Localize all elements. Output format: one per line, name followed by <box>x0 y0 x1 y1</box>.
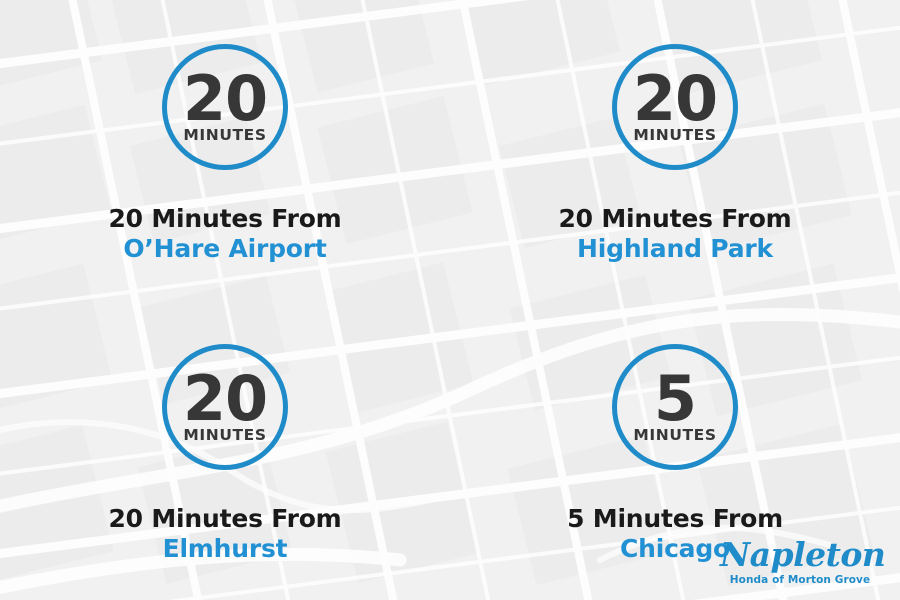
caption-location: O’Hare Airport <box>108 236 341 263</box>
badge-number: 5 <box>654 374 696 425</box>
badge-unit-label: MINUTES <box>633 428 716 444</box>
dealership-logo: Napleton Honda of Morton Grove <box>720 538 880 586</box>
card-caption: 20 Minutes From O’Hare Airport <box>108 206 341 262</box>
badge-unit-label: MINUTES <box>633 128 716 144</box>
caption-prefix: 20 Minutes From <box>108 506 341 533</box>
badge-number: 20 <box>633 74 717 125</box>
time-badge: 20 MINUTES <box>162 344 288 470</box>
distance-card-ohare: 20 MINUTES 20 Minutes From O’Hare Airpor… <box>0 0 450 300</box>
badge-number: 20 <box>183 74 267 125</box>
distance-card-elmhurst: 20 MINUTES 20 Minutes From Elmhurst <box>0 300 450 600</box>
infographic-canvas: 20 MINUTES 20 Minutes From O’Hare Airpor… <box>0 0 900 600</box>
caption-prefix: 20 Minutes From <box>108 206 341 233</box>
caption-prefix: 5 Minutes From <box>567 506 783 533</box>
time-badge: 5 MINUTES <box>612 344 738 470</box>
card-caption: 20 Minutes From Elmhurst <box>108 506 341 562</box>
card-caption: 20 Minutes From Highland Park <box>558 206 791 262</box>
time-badge: 20 MINUTES <box>612 44 738 170</box>
time-badge: 20 MINUTES <box>162 44 288 170</box>
caption-prefix: 20 Minutes From <box>558 206 791 233</box>
badge-unit-label: MINUTES <box>183 128 266 144</box>
caption-location: Highland Park <box>558 236 791 263</box>
caption-location: Elmhurst <box>108 536 341 563</box>
logo-wordmark: Napleton <box>720 538 880 571</box>
badge-number: 20 <box>183 374 267 425</box>
logo-tagline: Honda of Morton Grove <box>720 575 880 586</box>
distance-card-grid: 20 MINUTES 20 Minutes From O’Hare Airpor… <box>0 0 900 600</box>
badge-unit-label: MINUTES <box>183 428 266 444</box>
distance-card-highland-park: 20 MINUTES 20 Minutes From Highland Park <box>450 0 900 300</box>
